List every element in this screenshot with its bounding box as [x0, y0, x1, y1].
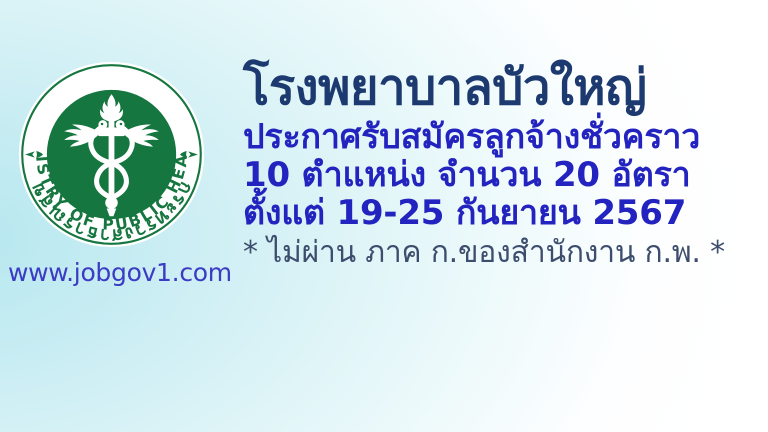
- announcement-line-1: ประกาศรับสมัครลูกจ้างชั่วคราว: [243, 118, 763, 156]
- logo-block: กระทรวงสาธารณสุข MINISTRY OF PUBLIC HEAL…: [8, 52, 222, 312]
- website-url: www.jobgov1.com: [8, 258, 222, 287]
- announcement-poster: กระทรวงสาธารณสุข MINISTRY OF PUBLIC HEAL…: [0, 0, 768, 432]
- hospital-name-headline: โรงพยาบาลบัวใหญ่: [243, 58, 763, 118]
- announcement-line-2: 10 ตำแหน่ง จำนวน 20 อัตรา: [243, 156, 763, 194]
- ministry-of-public-health-emblem-icon: กระทรวงสาธารณสุข MINISTRY OF PUBLIC HEAL…: [15, 58, 208, 251]
- announcement-note: * ไม่ผ่าน ภาค ก.ของสำนักงาน ก.พ. *: [243, 234, 763, 272]
- announcement-line-3: ตั้งแต่ 19-25 กันยายน 2567: [243, 194, 763, 232]
- announcement-text-block: โรงพยาบาลบัวใหญ่ ประกาศรับสมัครลูกจ้างชั…: [243, 58, 763, 272]
